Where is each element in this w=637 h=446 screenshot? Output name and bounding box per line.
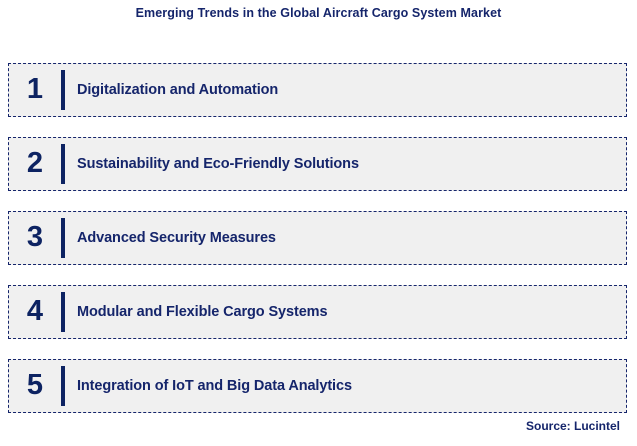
trend-label: Integration of IoT and Big Data Analytic…	[77, 378, 626, 394]
source-attribution: Source: Lucintel	[526, 419, 620, 433]
trend-label: Advanced Security Measures	[77, 230, 626, 246]
trend-rank-number: 1	[9, 75, 61, 106]
trend-rank-number: 5	[9, 371, 61, 402]
trend-rank-number: 2	[9, 149, 61, 180]
trend-rank-number: 3	[9, 223, 61, 254]
list-item[interactable]: 3 Advanced Security Measures	[8, 211, 627, 265]
trend-rank-number: 4	[9, 297, 61, 328]
infographic-canvas: Emerging Trends in the Global Aircraft C…	[0, 0, 637, 446]
vertical-divider	[61, 218, 65, 258]
list-item[interactable]: 4 Modular and Flexible Cargo Systems	[8, 285, 627, 339]
trend-label: Modular and Flexible Cargo Systems	[77, 304, 626, 320]
vertical-divider	[61, 292, 65, 332]
list-item[interactable]: 1 Digitalization and Automation	[8, 63, 627, 117]
trend-label: Digitalization and Automation	[77, 82, 626, 98]
vertical-divider	[61, 144, 65, 184]
trend-label: Sustainability and Eco-Friendly Solution…	[77, 156, 626, 172]
list-item[interactable]: 2 Sustainability and Eco-Friendly Soluti…	[8, 137, 627, 191]
trend-list: 1 Digitalization and Automation 2 Sustai…	[8, 63, 627, 413]
list-item[interactable]: 5 Integration of IoT and Big Data Analyt…	[8, 359, 627, 413]
page-title: Emerging Trends in the Global Aircraft C…	[0, 6, 637, 20]
vertical-divider	[61, 70, 65, 110]
vertical-divider	[61, 366, 65, 406]
